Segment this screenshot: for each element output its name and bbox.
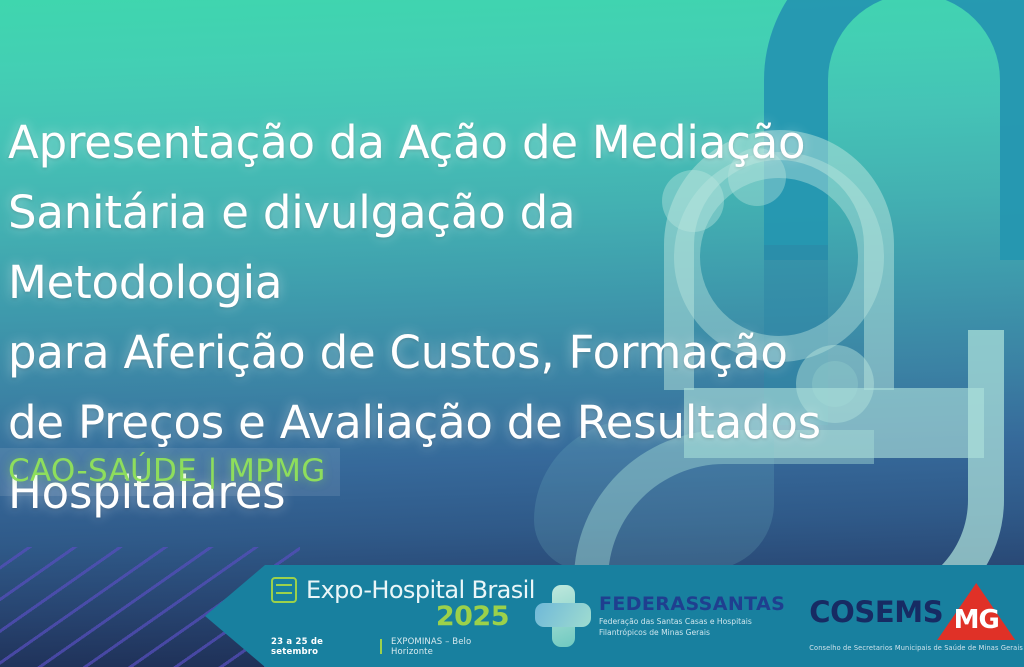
cosems-name: COSEMS bbox=[809, 595, 943, 629]
federassantas-tagline: Federação das Santas Casas e Hospitais F… bbox=[599, 616, 785, 638]
cosems-tagline: Conselho de Secretarios Municipais de Sa… bbox=[809, 644, 1023, 652]
logo-expo-hospital-brasil[interactable]: Expo-Hospital Brasil 2025 23 a 25 de set… bbox=[263, 576, 513, 657]
expo-year: 2025 bbox=[271, 601, 513, 632]
federassantas-name: FEDERASSANTAS bbox=[599, 594, 785, 615]
expo-dates: 23 a 25 de setembro bbox=[271, 637, 371, 657]
expo-venue: EXPOMINAS – Belo Horizonte bbox=[391, 637, 513, 657]
hospital-building-icon bbox=[271, 577, 297, 603]
federassantas-text: FEDERASSANTAS Federação das Santas Casas… bbox=[599, 594, 785, 638]
cosems-triangle-icon: MG bbox=[937, 581, 1015, 643]
sponsor-banner: Expo-Hospital Brasil 2025 23 a 25 de set… bbox=[205, 565, 1024, 667]
expo-title-row: Expo-Hospital Brasil bbox=[271, 576, 513, 604]
expo-separator bbox=[380, 639, 382, 654]
expo-name: Expo-Hospital Brasil bbox=[306, 576, 535, 604]
cosems-title-row: COSEMS MG bbox=[809, 581, 1023, 643]
slide-subtitle-container: CAO-SAÚDE | MPMG bbox=[0, 448, 340, 496]
logo-federassantas[interactable]: FEDERASSANTAS Federação das Santas Casas… bbox=[535, 585, 785, 647]
presentation-slide: Apresentação da Ação de Mediação Sanitár… bbox=[0, 0, 1024, 667]
medical-cross-hands-icon bbox=[535, 585, 591, 647]
cosems-state: MG bbox=[937, 605, 1015, 635]
slide-subtitle: CAO-SAÚDE | MPMG bbox=[8, 454, 326, 488]
expo-footer: 23 a 25 de setembro EXPOMINAS – Belo Hor… bbox=[271, 637, 513, 657]
sponsor-banner-content: Expo-Hospital Brasil 2025 23 a 25 de set… bbox=[205, 565, 1024, 667]
logo-cosems-mg[interactable]: COSEMS MG Conselho de Secretarios Munici… bbox=[809, 581, 1023, 652]
